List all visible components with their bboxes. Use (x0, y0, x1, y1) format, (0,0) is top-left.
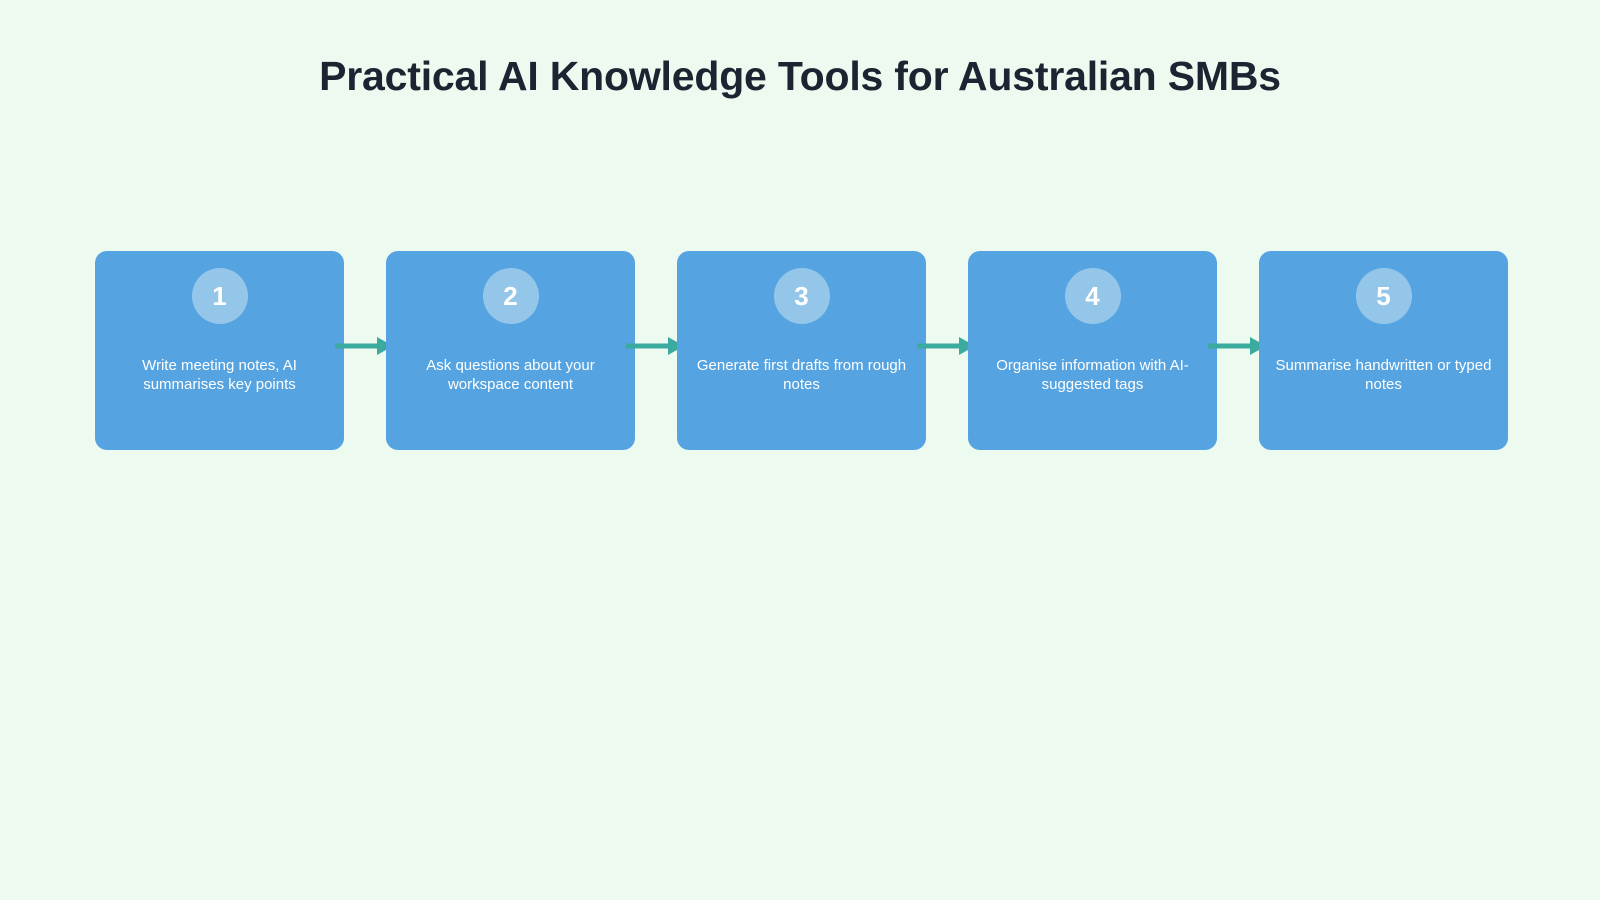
flow-step-2[interactable]: 2 Ask questions about your workspace con… (386, 251, 635, 450)
step-number: 1 (212, 283, 226, 309)
step-number-badge: 2 (483, 268, 539, 324)
step-description: Write meeting notes, AI summarises key p… (107, 356, 332, 394)
flow-step-1[interactable]: 1 Write meeting notes, AI summarises key… (95, 251, 344, 450)
connector-4-to-5 (1217, 251, 1259, 450)
step-card[interactable]: 5 Summarise handwritten or typed notes (1259, 251, 1508, 450)
flow-step-4[interactable]: 4 Organise information with AI-suggested… (968, 251, 1217, 450)
step-description: Summarise handwritten or typed notes (1271, 356, 1496, 394)
step-card[interactable]: 3 Generate first drafts from rough notes (677, 251, 926, 450)
step-number-badge: 5 (1356, 268, 1412, 324)
step-card[interactable]: 1 Write meeting notes, AI summarises key… (95, 251, 344, 450)
step-number: 2 (503, 283, 517, 309)
flow-step-5[interactable]: 5 Summarise handwritten or typed notes (1259, 251, 1508, 450)
connector-1-to-2 (344, 251, 386, 450)
step-card[interactable]: 2 Ask questions about your workspace con… (386, 251, 635, 450)
step-number: 5 (1376, 283, 1390, 309)
step-number: 4 (1085, 283, 1099, 309)
step-number-badge: 4 (1065, 268, 1121, 324)
step-card[interactable]: 4 Organise information with AI-suggested… (968, 251, 1217, 450)
connector-2-to-3 (635, 251, 677, 450)
infographic-canvas: Practical AI Knowledge Tools for Austral… (0, 0, 1600, 900)
step-description: Generate first drafts from rough notes (689, 356, 914, 394)
process-flow: 1 Write meeting notes, AI summarises key… (95, 251, 1506, 450)
flow-step-3[interactable]: 3 Generate first drafts from rough notes (677, 251, 926, 450)
step-number-badge: 3 (774, 268, 830, 324)
step-number-badge: 1 (192, 268, 248, 324)
step-description: Organise information with AI-suggested t… (980, 356, 1205, 394)
connector-3-to-4 (926, 251, 968, 450)
page-title: Practical AI Knowledge Tools for Austral… (0, 52, 1600, 101)
step-description: Ask questions about your workspace conte… (398, 356, 623, 394)
step-number: 3 (794, 283, 808, 309)
